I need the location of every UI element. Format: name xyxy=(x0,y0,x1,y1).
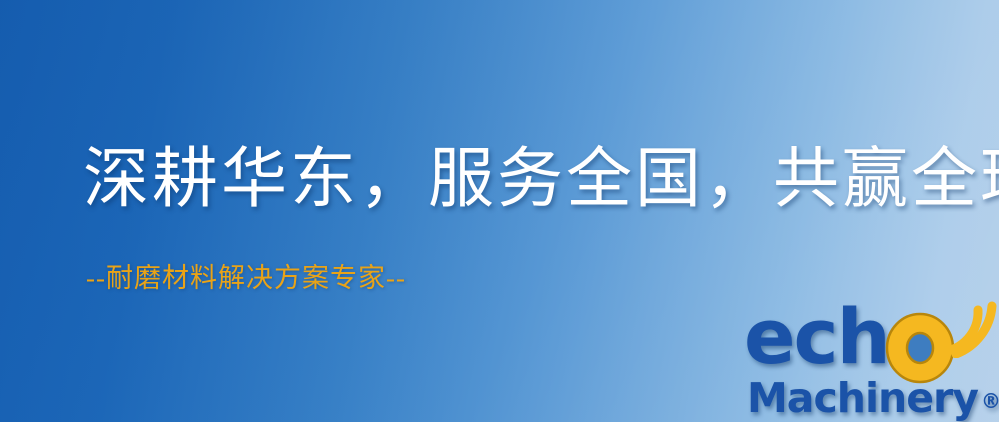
signal-arcs-icon xyxy=(930,296,998,358)
headline-text: 深耕华东，服务全国，共赢全球 xyxy=(83,147,999,213)
subtitle-text: --耐磨材料解决方案专家-- xyxy=(86,265,406,292)
registered-trademark-icon: ® xyxy=(981,389,999,413)
logo-brand-line: Machinery® xyxy=(747,374,999,422)
logo-wordmark-ech: ech xyxy=(744,300,889,374)
company-logo: ech Machinery® xyxy=(744,300,996,418)
hero-banner: 深耕华东，服务全国，共赢全球 --耐磨材料解决方案专家-- ech Machin… xyxy=(0,0,999,422)
logo-brand-text: Machinery xyxy=(747,374,978,422)
